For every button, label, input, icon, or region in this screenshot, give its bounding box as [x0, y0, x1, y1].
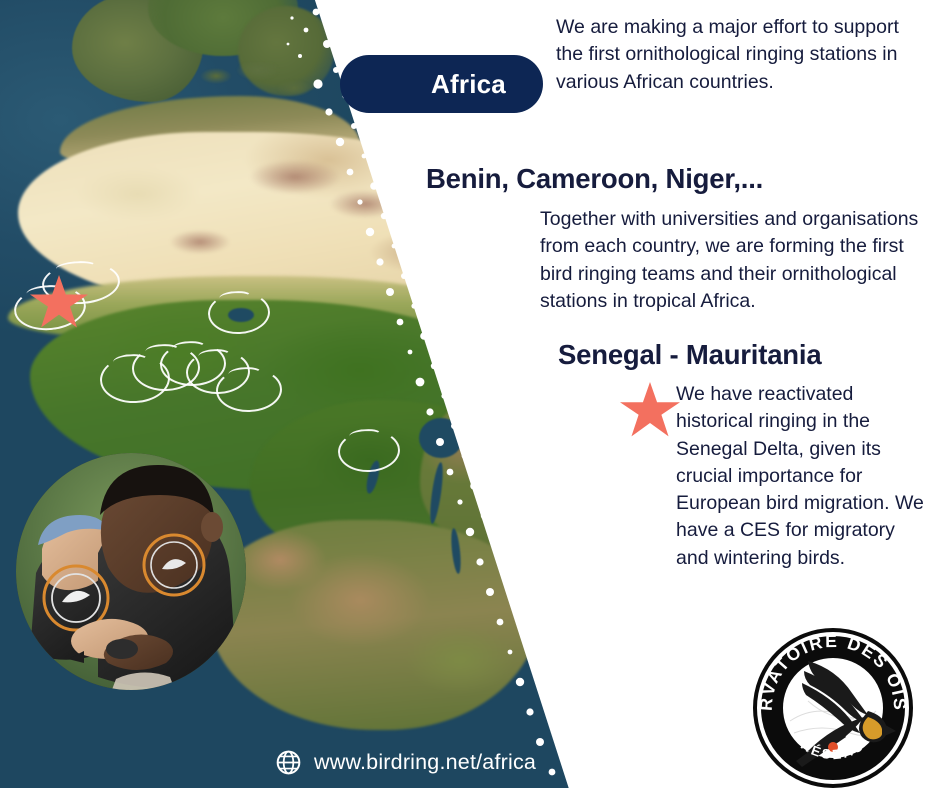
bird-observatory-logo[interactable]: OBSERVATOIRE DES OISEAUX RÉSEAU	[750, 625, 916, 788]
globe-icon	[276, 750, 301, 775]
region-badge-africa[interactable]: Africa	[340, 55, 543, 113]
section-body-benin-cameroon-niger: Together with universities and organisat…	[540, 206, 934, 315]
footer-website[interactable]: www.birdring.net/africa	[276, 750, 536, 775]
sahara-mountain-3	[170, 230, 230, 254]
section-heading-benin-cameroon-niger: Benin, Cameroon, Niger,...	[426, 164, 926, 194]
region-badge-label: Africa	[431, 69, 506, 100]
bird-ringing-photo	[16, 453, 246, 690]
footer-url-text: www.birdring.net/africa	[314, 750, 536, 775]
section-body-senegal-mauritania: We have reactivated historical ringing i…	[676, 381, 932, 572]
poster-root: Africa We are making a major effort to s…	[0, 0, 940, 788]
sahara-mountain-1	[250, 160, 340, 194]
section-heading-senegal-mauritania: Senegal - Mauritania	[558, 340, 940, 370]
intro-paragraph: We are making a major effort to support …	[556, 14, 924, 96]
